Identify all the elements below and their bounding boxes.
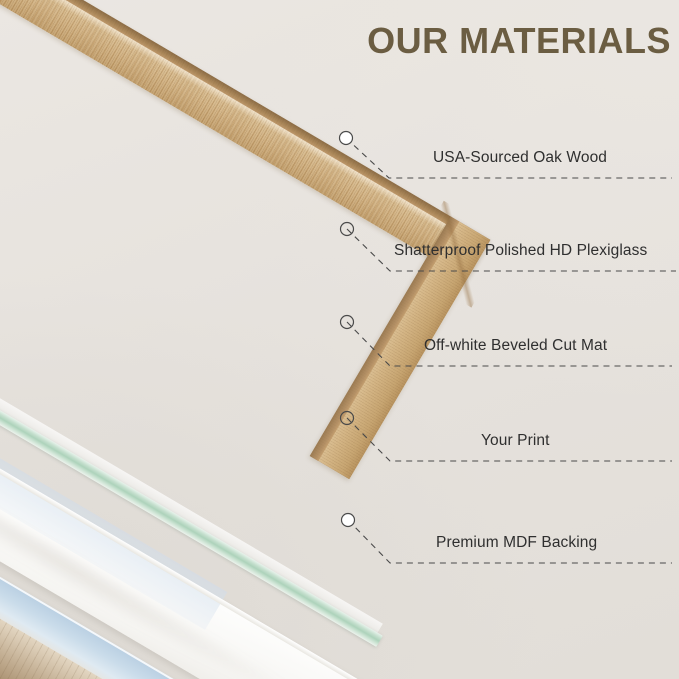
callout-label-print: Your Print (481, 432, 550, 450)
callout-label-mat: Off-white Beveled Cut Mat (424, 337, 607, 355)
infographic-canvas: OUR MATERIALS USA-Sourced Oak Wood Shatt… (0, 0, 679, 679)
callout-label-oak-wood: USA-Sourced Oak Wood (433, 149, 607, 167)
callout-marker-oak-wood (340, 132, 353, 145)
callout-label-mdf-backing: Premium MDF Backing (436, 534, 597, 552)
callout-label-plexiglass: Shatterproof Polished HD Plexiglass (394, 242, 647, 260)
callout-marker-mdf-backing (342, 514, 355, 527)
